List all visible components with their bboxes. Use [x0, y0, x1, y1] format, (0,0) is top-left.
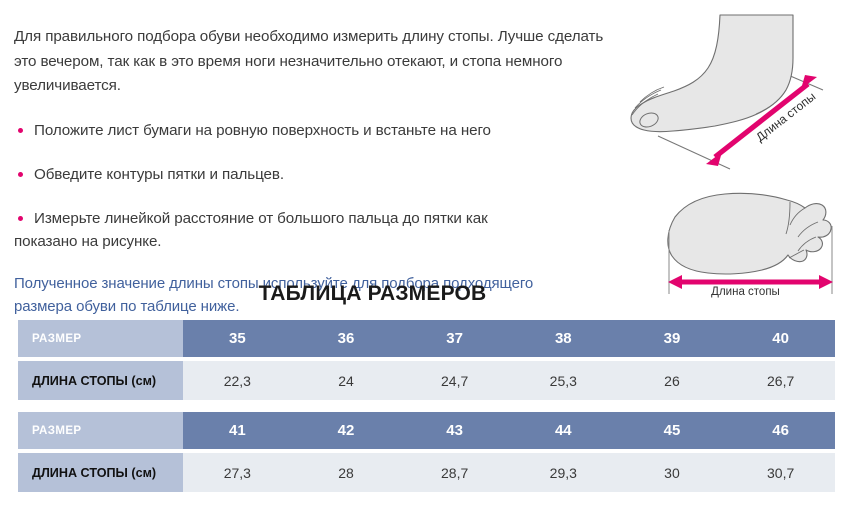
size-cell: 37: [400, 320, 509, 357]
bullet-dot-icon: [18, 128, 23, 133]
list-item: Обведите контуры пятки и пальцев.: [14, 163, 620, 186]
table-row: ДЛИНА СТОПЫ (см) 27,3 28 28,7 29,3 30 30…: [18, 453, 835, 492]
size-cell: 38: [509, 320, 618, 357]
size-table-eu-41-46: РАЗМЕР 41 42 43 44 45 46 ДЛИНА СТОПЫ (см…: [18, 412, 835, 492]
sole-measure-label: Длина стопы: [640, 286, 851, 298]
step-text: Положите лист бумаги на ровную поверхнос…: [34, 122, 491, 139]
column-header-size: РАЗМЕР: [18, 320, 183, 357]
page-title: ТАБЛИЦА РАЗМЕРОВ: [0, 282, 745, 306]
length-cell: 25,3: [509, 361, 618, 400]
list-item: Положите лист бумаги на ровную поверхнос…: [14, 119, 620, 142]
size-cell: 39: [618, 320, 727, 357]
size-cell: 44: [509, 412, 618, 449]
table-row: ДЛИНА СТОПЫ (см) 22,3 24 24,7 25,3 26 26…: [18, 361, 835, 400]
size-cell: 40: [726, 320, 835, 357]
size-cell: 41: [183, 412, 292, 449]
size-cell: 46: [726, 412, 835, 449]
steps-list: Положите лист бумаги на ровную поверхнос…: [14, 119, 620, 253]
length-cell: 27,3: [183, 453, 292, 492]
length-cell: 30: [618, 453, 727, 492]
foot-side-view-icon: Длина стопы: [618, 2, 851, 180]
column-header-size: РАЗМЕР: [18, 412, 183, 449]
size-cell: 43: [400, 412, 509, 449]
length-cell: 26: [618, 361, 727, 400]
length-cell: 28: [292, 453, 401, 492]
length-cell: 29,3: [509, 453, 618, 492]
row-header-foot-length: ДЛИНА СТОПЫ (см): [18, 453, 183, 492]
step-text: Обведите контуры пятки и пальцев.: [34, 166, 284, 183]
table-row: РАЗМЕР 41 42 43 44 45 46: [18, 412, 835, 449]
row-header-foot-length: ДЛИНА СТОПЫ (см): [18, 361, 183, 400]
length-cell: 26,7: [726, 361, 835, 400]
size-cell: 36: [292, 320, 401, 357]
length-cell: 24,7: [400, 361, 509, 400]
step-text-continued: показано на рисунке.: [14, 230, 620, 253]
length-cell: 28,7: [400, 453, 509, 492]
intro-paragraph: Для правильного подбора обуви необходимо…: [14, 25, 620, 98]
size-cell: 35: [183, 320, 292, 357]
size-cell: 45: [618, 412, 727, 449]
size-table-eu-35-40: РАЗМЕР 35 36 37 38 39 40 ДЛИНА СТОПЫ (см…: [18, 320, 835, 400]
bullet-dot-icon: [18, 172, 23, 177]
length-cell: 22,3: [183, 361, 292, 400]
table-row: РАЗМЕР 35 36 37 38 39 40: [18, 320, 835, 357]
list-item: Измерьте линейкой расстояние от большого…: [14, 207, 620, 253]
length-cell: 30,7: [726, 453, 835, 492]
size-cell: 42: [292, 412, 401, 449]
step-text: Измерьте линейкой расстояние от большого…: [34, 210, 488, 227]
length-cell: 24: [292, 361, 401, 400]
bullet-dot-icon: [18, 216, 23, 221]
foot-side-view-illustration: Длина стопы: [618, 2, 851, 180]
